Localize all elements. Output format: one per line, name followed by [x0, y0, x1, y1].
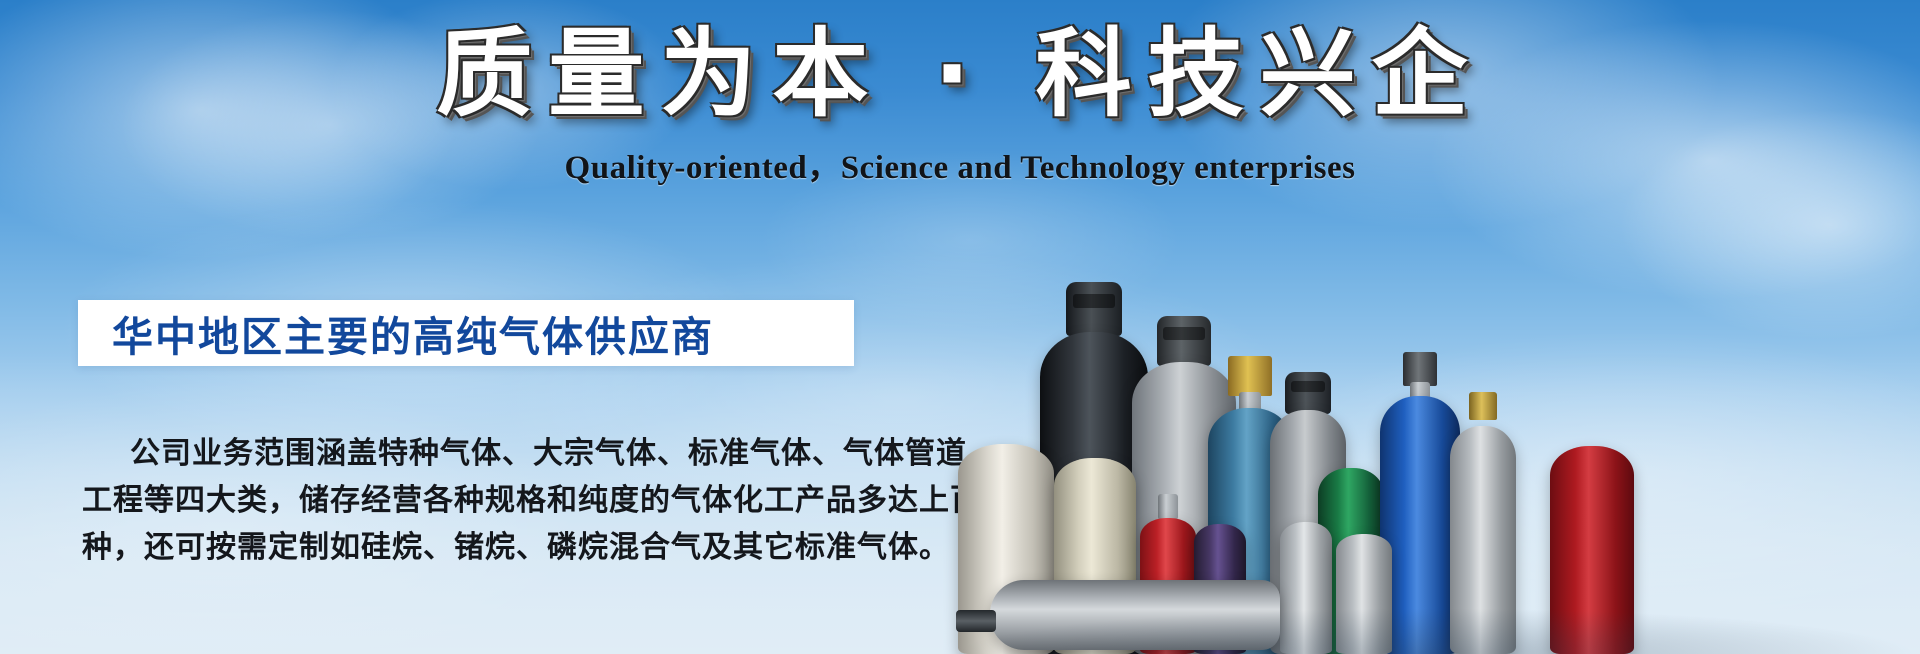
description-line: 公司业务范围涵盖特种气体、大宗气体、标准气体、气体管道	[82, 430, 872, 477]
highlight-bar: 华中地区主要的高纯气体供应商	[78, 300, 854, 366]
description-line: 工程等四大类，储存经营各种规格和纯度的气体化工产品多达上百	[82, 477, 872, 524]
ground-shadow	[950, 608, 1920, 654]
cylinder-neck	[1158, 494, 1178, 520]
description-line: 种，还可按需定制如硅烷、锗烷、磷烷混合气及其它标准气体。	[82, 524, 872, 571]
cylinder-cap	[1285, 372, 1331, 414]
banner-description: 公司业务范围涵盖特种气体、大宗气体、标准气体、气体管道 工程等四大类，储存经营各…	[82, 430, 872, 571]
promo-banner: 质量为本 · 科技兴企 Quality-oriented，Science and…	[0, 0, 1920, 654]
gas-cylinder-group-photo	[950, 150, 1920, 654]
cylinder-valve	[1403, 352, 1437, 386]
banner-headline: 质量为本 · 科技兴企	[0, 24, 1920, 125]
highlight-bar-label: 华中地区主要的高纯气体供应商	[78, 303, 714, 363]
cylinder-valve	[1228, 356, 1272, 396]
cylinder-cap	[1157, 316, 1211, 366]
cylinder-valve	[1469, 392, 1497, 420]
cylinder-cap	[1066, 282, 1122, 336]
